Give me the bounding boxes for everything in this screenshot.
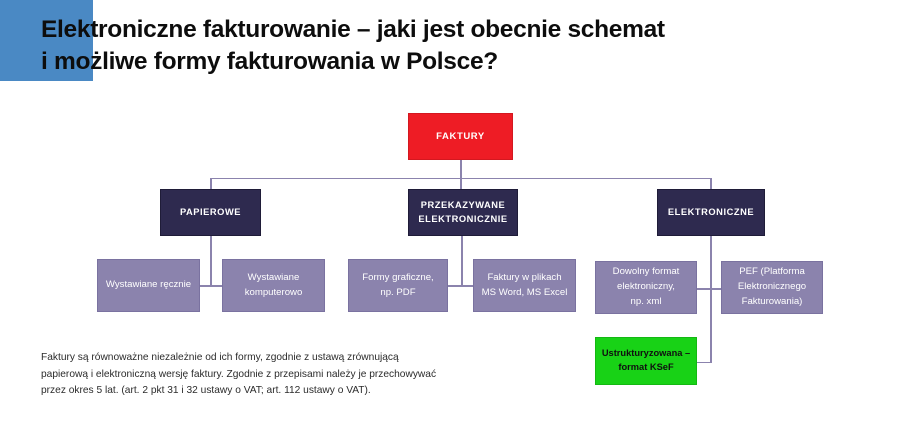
connector-elektroniczne-stem (710, 236, 712, 363)
connector-przekazywane-stem (461, 236, 463, 286)
connector-root-stem (460, 160, 462, 178)
slide-canvas: Elektroniczne fakturowanie – jaki jest o… (0, 0, 918, 430)
node-faktury[interactable]: FAKTURY (408, 113, 513, 160)
connector-ksef-branch (697, 362, 711, 364)
node-wystawiane-komputerowo-label: Wystawiane komputerowo (245, 271, 303, 301)
node-faktury-w-plikach[interactable]: Faktury w plikach MS Word, MS Excel (473, 259, 576, 312)
connector-papierowe-right (210, 285, 222, 287)
node-wystawiane-recznie[interactable]: Wystawiane ręcznie (97, 259, 200, 312)
connector-to-elektroniczne (710, 178, 712, 190)
connector-papierowe-stem (210, 236, 212, 286)
node-przekazywane-elektronicznie[interactable]: PRZEKAZYWANE ELEKTRONICZNIE (408, 189, 518, 236)
node-ksef-label: Ustrukturyzowana – format KSeF (602, 347, 690, 375)
node-formy-graficzne[interactable]: Formy graficzne, np. PDF (348, 259, 448, 312)
node-faktury-label: FAKTURY (436, 131, 485, 142)
connector-przekazywane-left (448, 285, 462, 287)
node-wystawiane-recznie-label: Wystawiane ręcznie (106, 278, 191, 293)
connector-to-przekazywane (460, 178, 462, 190)
node-wystawiane-komputerowo[interactable]: Wystawiane komputerowo (222, 259, 325, 312)
node-przekazywane-label: PRZEKAZYWANE ELEKTRONICZNIE (418, 199, 507, 227)
node-faktury-w-plikach-label: Faktury w plikach MS Word, MS Excel (482, 271, 568, 301)
node-papierowe[interactable]: PAPIEROWE (160, 189, 261, 236)
node-papierowe-label: PAPIEROWE (180, 206, 241, 220)
connector-elektroniczne-left (697, 288, 711, 290)
node-elektroniczne[interactable]: ELEKTRONICZNE (657, 189, 765, 236)
connector-przekazywane-right (461, 285, 473, 287)
node-ustrukturyzowana-ksef[interactable]: Ustrukturyzowana – format KSeF (595, 337, 697, 385)
connector-to-papierowe (210, 178, 212, 190)
connector-elektroniczne-right (710, 288, 721, 290)
node-pef[interactable]: PEF (Platforma Elektronicznego Fakturowa… (721, 261, 823, 314)
node-dowolny-format[interactable]: Dowolny format elektroniczny, np. xml (595, 261, 697, 314)
page-title: Elektroniczne fakturowanie – jaki jest o… (41, 14, 881, 79)
node-pef-label: PEF (Platforma Elektronicznego Fakturowa… (738, 265, 806, 310)
node-elektroniczne-label: ELEKTRONICZNE (668, 206, 754, 220)
node-dowolny-format-label: Dowolny format elektroniczny, np. xml (613, 265, 680, 310)
node-formy-graficzne-label: Formy graficzne, np. PDF (362, 271, 433, 301)
footnote-text: Faktury są równoważne niezależnie od ich… (41, 350, 471, 400)
